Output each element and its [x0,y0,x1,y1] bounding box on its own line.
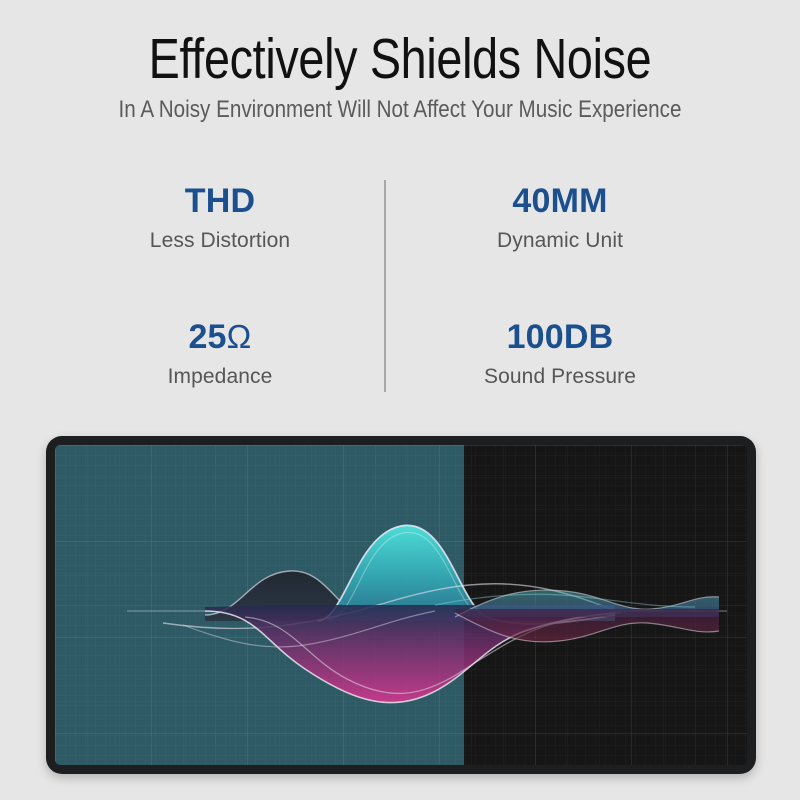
spec-value-unit-ohm: Ω [227,318,252,355]
spec-value: THD [70,184,370,220]
spec-value: 100DB [410,320,710,356]
page-title: Effectively Shields Noise [72,0,728,88]
header: Effectively Shields Noise In A Noisy Env… [0,0,800,124]
spec-value: 25Ω [70,320,370,356]
waveform-graphic [55,445,747,765]
spec-grid: THD Less Distortion 40MM Dynamic Unit 25… [60,176,740,396]
spec-grid-vertical-divider [384,180,386,392]
panel-screen [55,445,747,765]
spec-label: Sound Pressure [410,365,710,389]
spec-label: Less Distortion [70,229,370,253]
spec-item-sound-pressure: 100DB Sound Pressure [410,320,710,389]
spec-item-impedance: 25Ω Impedance [70,320,370,389]
page-subtitle: In A Noisy Environment Will Not Affect Y… [56,88,744,123]
spec-value: 40MM [410,184,710,220]
spec-label: Impedance [70,365,370,389]
waveform-panel [46,436,756,774]
spec-value-number: 25 [188,318,226,356]
spec-item-driver: 40MM Dynamic Unit [410,184,710,253]
spec-item-thd: THD Less Distortion [70,184,370,253]
spec-label: Dynamic Unit [410,229,710,253]
